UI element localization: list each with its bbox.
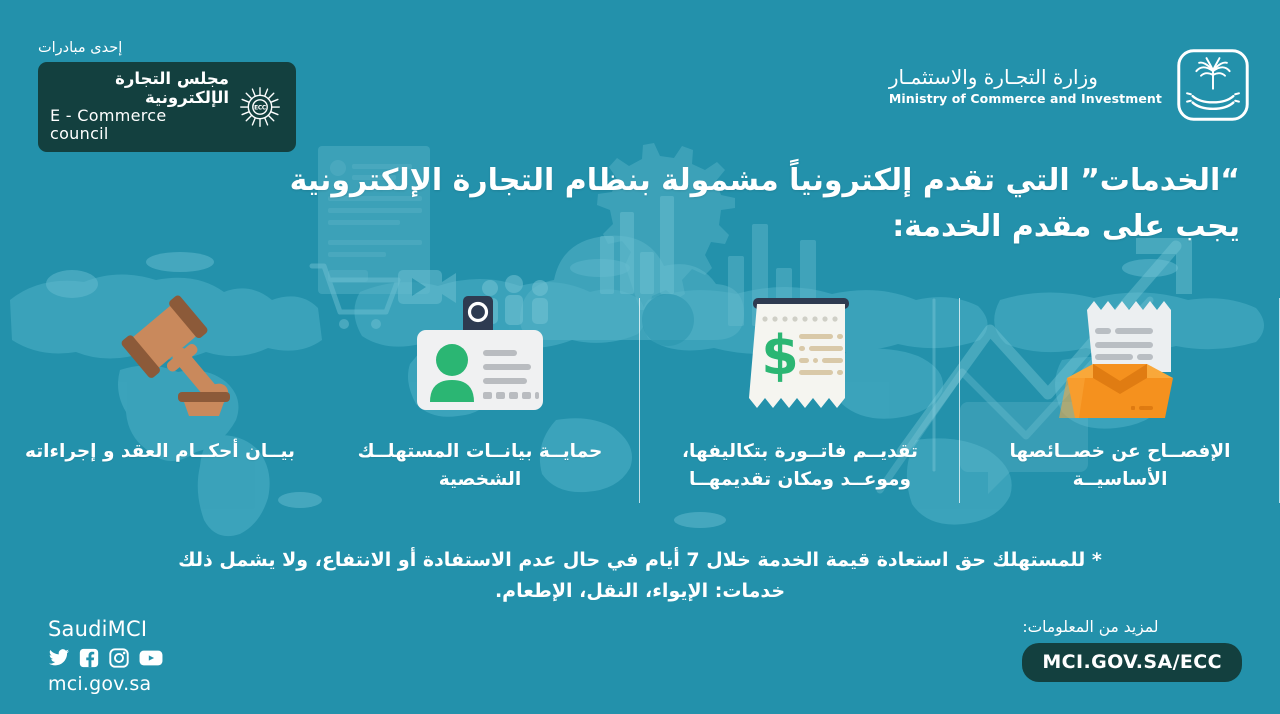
footer-social-block: SaudiMCI — [48, 616, 164, 695]
ecc-badge: ECC مجلس التجارة الإلكترونية E - Commerc… — [38, 62, 296, 152]
column-disclose-features: الإفصــاح عن خصــائصها الأساسيــة — [960, 280, 1280, 520]
ecc-name-arabic: مجلس التجارة الإلكترونية — [50, 70, 229, 107]
facebook-icon[interactable] — [78, 647, 100, 669]
footnote: * للمستهلك حق استعادة قيمة الخدمة خلال 7… — [150, 545, 1130, 607]
footer-more-info-block: لمزيد من المعلومات: MCI.GOV.SA/ECC — [1022, 618, 1242, 682]
ecc-kicker-label: إحدى مبادرات — [38, 40, 122, 57]
id-card-icon — [405, 280, 555, 420]
footnote-line-1: * للمستهلك حق استعادة قيمة الخدمة خلال 7… — [282, 549, 1102, 571]
column-consumer-data-protection: حمايــة بيانــات المستهلــك الشخصية — [320, 280, 640, 520]
svg-text:$: $ — [761, 324, 799, 387]
ecc-starburst-icon: ECC — [238, 85, 282, 129]
social-handle: SaudiMCI — [48, 616, 147, 642]
page-title: “الخدمات” التي تقدم إلكترونياً مشمولة بن… — [30, 158, 1240, 249]
headline-line-2: يجب على مقدم الخدمة: — [30, 204, 1240, 250]
more-info-label: لمزيد من المعلومات: — [1022, 618, 1158, 636]
column-invoice-costs: $ تقديــم فاتــورة بتكاليفها — [640, 280, 960, 520]
column-label-consumer-data-protection: حمايــة بيانــات المستهلــك الشخصية — [342, 438, 617, 494]
column-contract-terms: بيــان أحكــام العقد و إجراءاته — [0, 280, 320, 520]
ecc-logo-block: إحدى مبادرات — [38, 40, 296, 152]
headline-line-1: “الخدمات” التي تقدم إلكترونياً مشمولة بن… — [290, 163, 1240, 198]
header: إحدى مبادرات — [0, 0, 1280, 130]
gavel-icon — [85, 280, 235, 420]
youtube-icon[interactable] — [138, 647, 164, 669]
instagram-icon[interactable] — [108, 647, 130, 669]
requirements-columns: بيــان أحكــام العقد و إجراءاته — [0, 280, 1280, 520]
invoice-icon: $ — [725, 280, 875, 420]
infographic-poster: إحدى مبادرات — [0, 0, 1280, 714]
saudi-emblem-icon — [1176, 48, 1250, 122]
column-label-invoice-costs: تقديــم فاتــورة بتكاليفها، وموعــد ومكا… — [662, 438, 937, 494]
ministry-logo-block: وزارة التجـارة والاستثمـار Ministry of C… — [889, 48, 1250, 122]
ecc-url-badge[interactable]: MCI.GOV.SA/ECC — [1022, 643, 1242, 682]
ministry-name-arabic: وزارة التجـارة والاستثمـار — [889, 65, 1098, 89]
column-label-contract-terms: بيــان أحكــام العقد و إجراءاته — [22, 438, 297, 466]
ministry-name-english: Ministry of Commerce and Investment — [889, 91, 1162, 106]
box-document-icon — [1045, 280, 1195, 420]
column-label-disclose-features: الإفصــاح عن خصــائصها الأساسيــة — [982, 438, 1257, 494]
ecc-name-english: E - Commerce council — [50, 107, 229, 143]
twitter-icon[interactable] — [48, 647, 70, 669]
social-links — [48, 647, 164, 669]
website-url[interactable]: mci.gov.sa — [48, 673, 151, 695]
svg-text:ECC: ECC — [254, 105, 266, 111]
